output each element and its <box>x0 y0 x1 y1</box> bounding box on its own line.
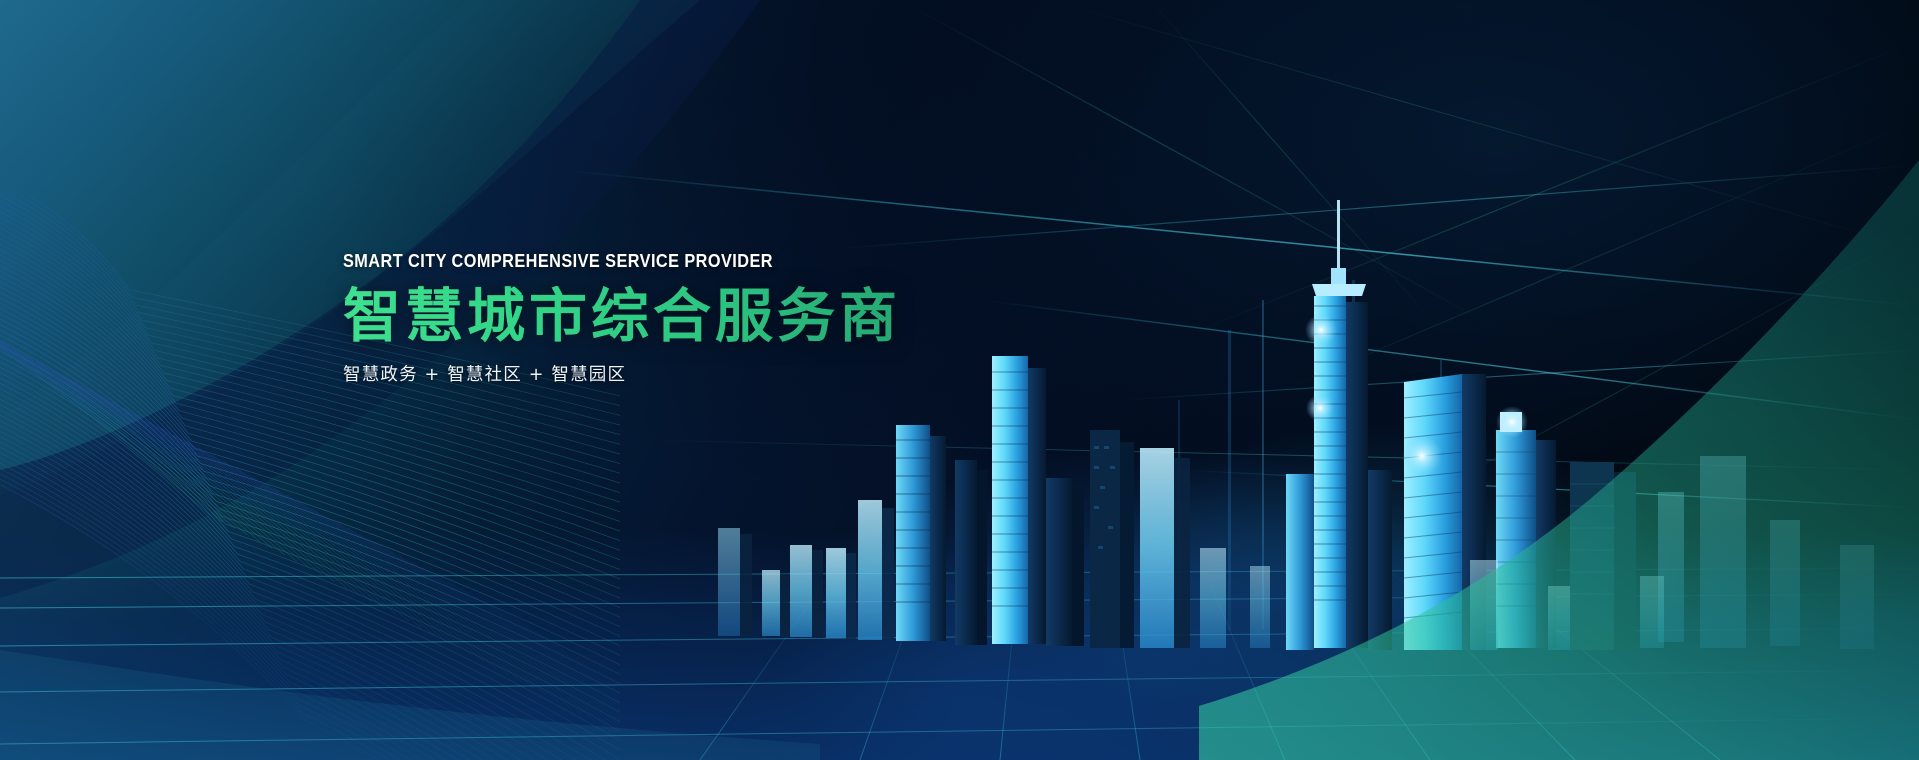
dark-building <box>1046 478 1084 646</box>
decor-wave-bottom-left <box>0 530 820 760</box>
hero-text-block: SMART CITY COMPREHENSIVE SERVICE PROVIDE… <box>343 250 1243 386</box>
decor-wave-bottom-right <box>1199 140 1919 760</box>
hero-subline: 智慧政务 + 智慧社区 + 智慧园区 <box>343 361 1243 386</box>
dark-building <box>1090 430 1134 648</box>
block-building <box>1140 448 1190 648</box>
hero-banner: SMART CITY COMPREHENSIVE SERVICE PROVIDE… <box>0 0 1919 760</box>
hero-eyebrow: SMART CITY COMPREHENSIVE SERVICE PROVIDE… <box>343 250 1135 272</box>
dark-building <box>955 460 987 645</box>
hero-headline: 智慧城市综合服务商 <box>343 286 1243 347</box>
tower-building <box>896 425 946 641</box>
tower-building <box>992 356 1046 644</box>
